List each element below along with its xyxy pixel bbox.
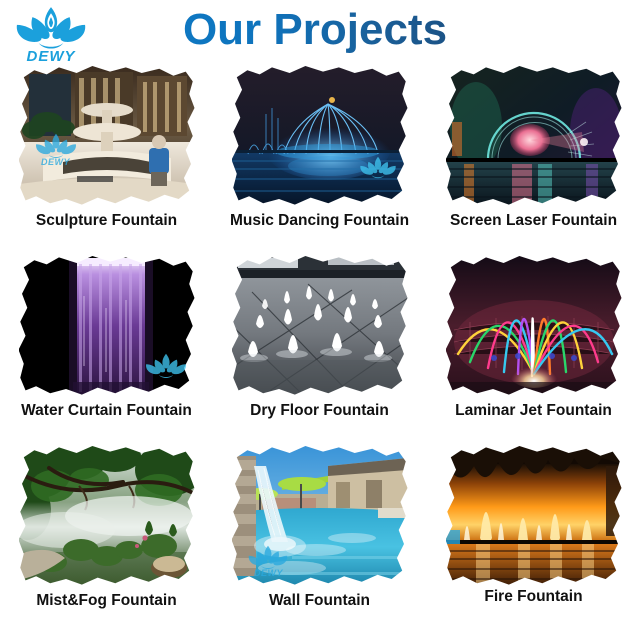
project-card[interactable]: Screen Laser Fountain	[427, 62, 640, 252]
page-title: Our Projects	[150, 2, 480, 58]
torn-edge-mask	[232, 256, 408, 396]
torn-edge-mask	[446, 66, 622, 206]
project-image	[446, 256, 622, 396]
project-caption: Fire Fountain	[427, 588, 640, 606]
project-image	[19, 256, 195, 396]
page-header: DEWY Our Projects	[0, 0, 640, 62]
project-image	[446, 446, 622, 586]
project-caption: Sculpture Fountain	[0, 212, 213, 230]
project-card[interactable]: Laminar Jet Fountain	[427, 252, 640, 442]
torn-edge-mask	[232, 66, 408, 206]
project-caption: Music Dancing Fountain	[213, 212, 426, 230]
torn-edge-mask	[446, 446, 622, 586]
project-card[interactable]: DEWY Wall Fountain	[213, 442, 426, 632]
project-image	[19, 446, 195, 586]
project-caption: Wall Fountain	[213, 592, 426, 610]
project-image	[446, 66, 622, 206]
projects-grid: DEWY Sculpture Fountain	[0, 62, 640, 640]
torn-edge-mask	[19, 256, 195, 396]
torn-edge-mask	[19, 66, 195, 206]
projects-page: DEWY Our Projects	[0, 0, 640, 640]
project-card[interactable]: Water Curtain Fountain	[0, 252, 213, 442]
torn-edge-mask	[232, 446, 408, 586]
project-caption: Screen Laser Fountain	[427, 212, 640, 230]
project-caption: Laminar Jet Fountain	[427, 402, 640, 420]
project-card[interactable]: Music Dancing Fountain	[213, 62, 426, 252]
torn-edge-mask	[19, 446, 195, 586]
project-image	[232, 256, 408, 396]
project-card[interactable]: Dry Floor Fountain	[213, 252, 426, 442]
lotus-icon	[12, 4, 90, 52]
project-card[interactable]: Fire Fountain	[427, 442, 640, 632]
project-caption: Dry Floor Fountain	[213, 402, 426, 420]
project-card[interactable]: DEWY Sculpture Fountain	[0, 62, 213, 252]
project-caption: Mist&Fog Fountain	[0, 592, 213, 610]
brand-logo[interactable]: DEWY	[12, 4, 90, 66]
project-image	[232, 66, 408, 206]
torn-edge-mask	[446, 256, 622, 396]
project-image: DEWY	[232, 446, 408, 586]
project-card[interactable]: Mist&Fog Fountain	[0, 442, 213, 632]
project-image: DEWY	[19, 66, 195, 206]
project-caption: Water Curtain Fountain	[0, 402, 213, 420]
